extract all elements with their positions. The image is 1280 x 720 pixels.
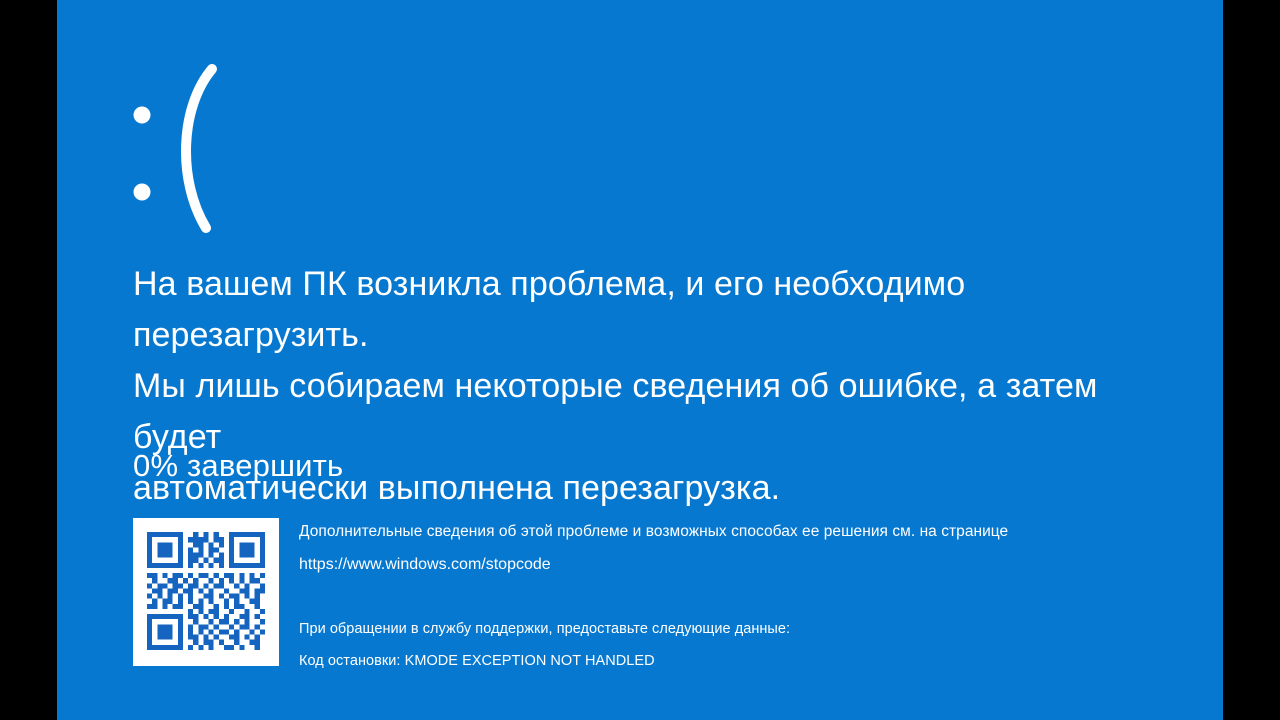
stop-code-row: Код остановки: KMODE EXCEPTION NOT HANDL… xyxy=(299,649,1159,673)
bsod-screen: На вашем ПК возникла проблема, и его нео… xyxy=(0,0,1280,720)
support-url-link[interactable]: https://www.windows.com/stopcode xyxy=(299,551,1159,579)
stop-code-label: Код остановки: xyxy=(299,653,401,669)
stop-code-value: KMODE EXCEPTION NOT HANDLED xyxy=(405,653,655,669)
more-info-text: Дополнительные сведения об этой проблеме… xyxy=(299,518,1159,546)
bsod-blue-panel: На вашем ПК возникла проблема, и его нео… xyxy=(57,0,1223,720)
details-text-column: Дополнительные сведения об этой проблеме… xyxy=(299,518,1159,673)
progress-status: 0% завершить xyxy=(133,448,343,484)
sad-face-icon xyxy=(133,55,313,245)
qr-code-icon xyxy=(133,518,279,666)
support-prompt-text: При обращении в службу поддержки, предос… xyxy=(299,617,1159,641)
